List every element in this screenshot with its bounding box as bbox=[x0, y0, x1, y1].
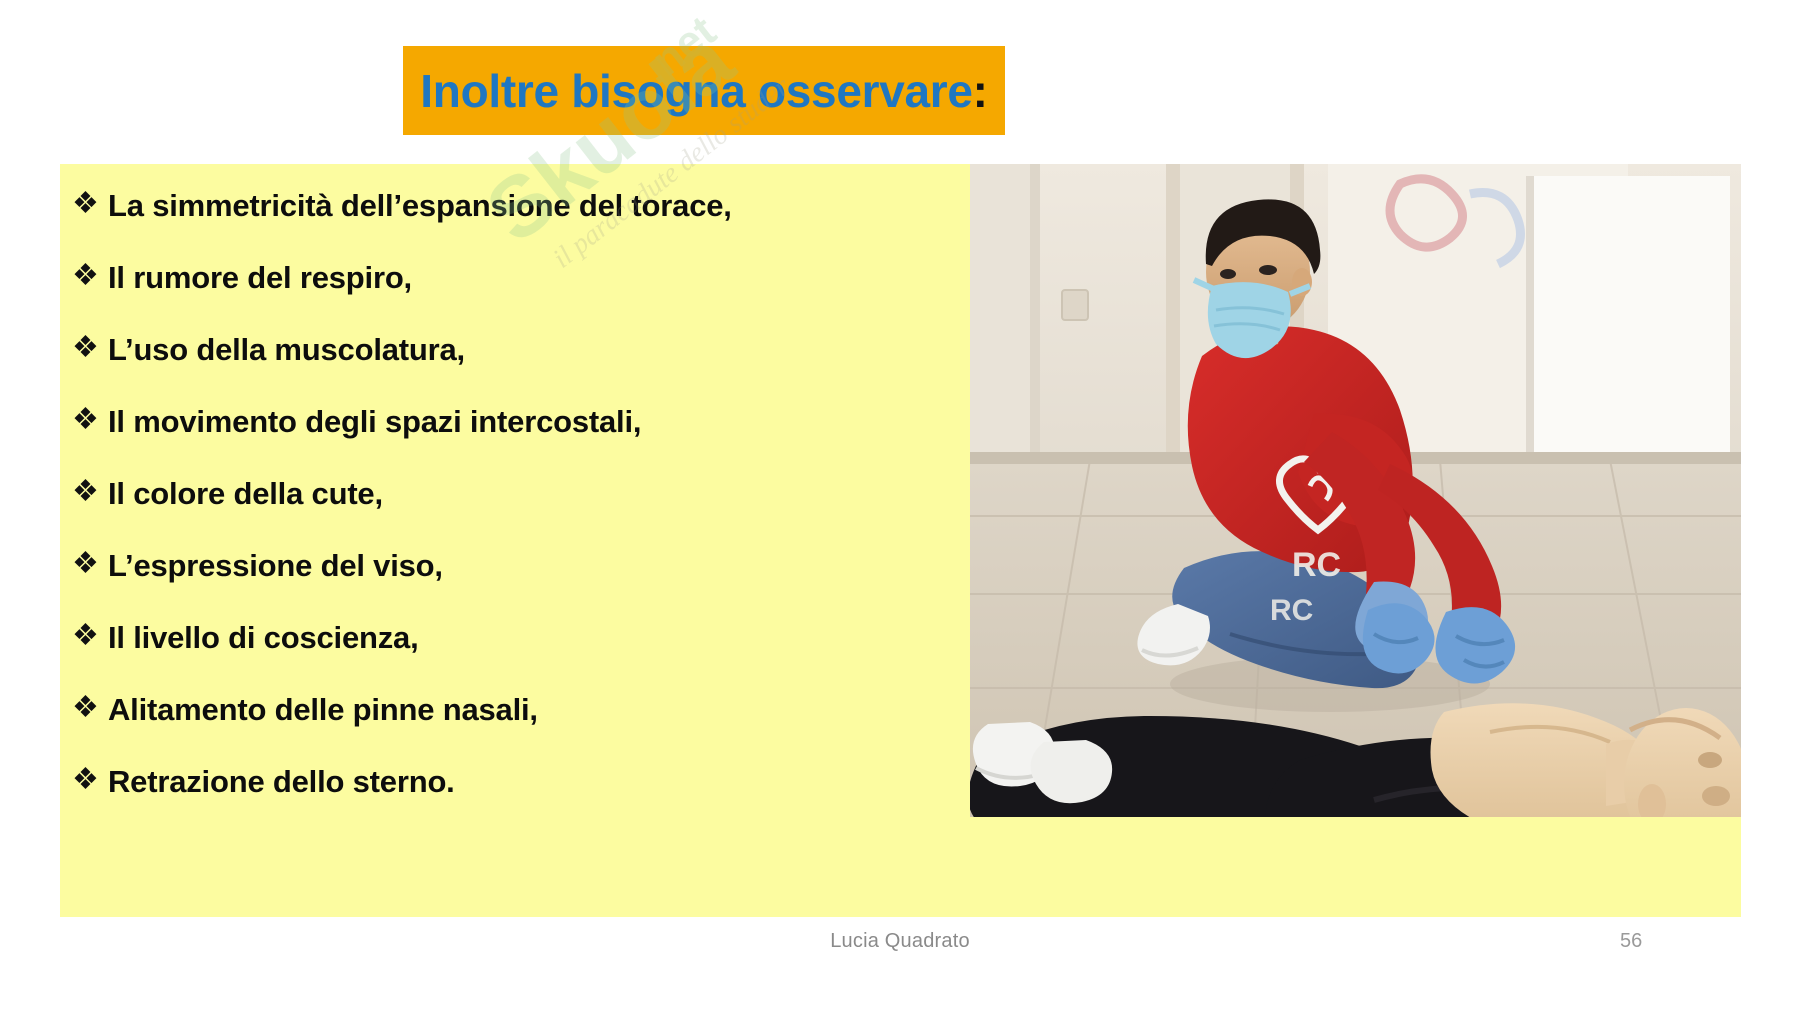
cpr-training-photo: RC RC bbox=[970, 164, 1741, 817]
list-item: ❖ L’espressione del viso, bbox=[72, 550, 962, 622]
list-item: ❖ Il colore della cute, bbox=[72, 478, 962, 550]
list-item-label: Il rumore del respiro, bbox=[108, 262, 962, 295]
diamond-bullet-icon: ❖ bbox=[72, 261, 108, 291]
list-item: ❖ L’uso della muscolatura, bbox=[72, 334, 962, 406]
diamond-bullet-icon: ❖ bbox=[72, 333, 108, 363]
diamond-bullet-icon: ❖ bbox=[72, 405, 108, 435]
list-item-label: L’espressione del viso, bbox=[108, 550, 962, 583]
list-item-label: Alitamento delle pinne nasali, bbox=[108, 694, 962, 727]
diamond-bullet-icon: ❖ bbox=[72, 693, 108, 723]
diamond-bullet-icon: ❖ bbox=[72, 189, 108, 219]
page-title-main: Inoltre bisogna osservare bbox=[420, 65, 972, 117]
footer-author: Lucia Quadrato bbox=[600, 930, 1200, 953]
diamond-bullet-icon: ❖ bbox=[72, 621, 108, 651]
list-item-label: La simmetricità dell’espansione del tora… bbox=[108, 190, 962, 223]
observation-bullet-list: ❖ La simmetricità dell’espansione del to… bbox=[72, 178, 962, 904]
diamond-bullet-icon: ❖ bbox=[72, 549, 108, 579]
list-item: ❖ Il movimento degli spazi intercostali, bbox=[72, 406, 962, 478]
svg-text:RC: RC bbox=[1292, 546, 1341, 584]
diamond-bullet-icon: ❖ bbox=[72, 765, 108, 795]
list-item: ❖ Il livello di coscienza, bbox=[72, 622, 962, 694]
list-item: ❖ La simmetricità dell’espansione del to… bbox=[72, 190, 962, 262]
list-item-label: L’uso della muscolatura, bbox=[108, 334, 962, 367]
list-item: ❖ Retrazione dello sterno. bbox=[72, 766, 962, 838]
svg-text:RC: RC bbox=[1270, 594, 1313, 627]
list-item-label: Il movimento degli spazi intercostali, bbox=[108, 406, 962, 439]
slide-canvas: Inoltre bisogna osservare: ❖ La simmetri… bbox=[0, 0, 1800, 1013]
slide-title-band: Inoltre bisogna osservare: bbox=[403, 46, 1005, 135]
list-item-label: Il livello di coscienza, bbox=[108, 622, 962, 655]
list-item-label: Retrazione dello sterno. bbox=[108, 766, 962, 799]
diamond-bullet-icon: ❖ bbox=[72, 477, 108, 507]
page-number: 56 bbox=[1620, 930, 1740, 953]
page-title-colon: : bbox=[973, 65, 988, 117]
list-item-label: Il colore della cute, bbox=[108, 478, 962, 511]
list-item: ❖ Il rumore del respiro, bbox=[72, 262, 962, 334]
list-item: ❖ Alitamento delle pinne nasali, bbox=[72, 694, 962, 766]
page-title: Inoltre bisogna osservare: bbox=[420, 68, 987, 114]
